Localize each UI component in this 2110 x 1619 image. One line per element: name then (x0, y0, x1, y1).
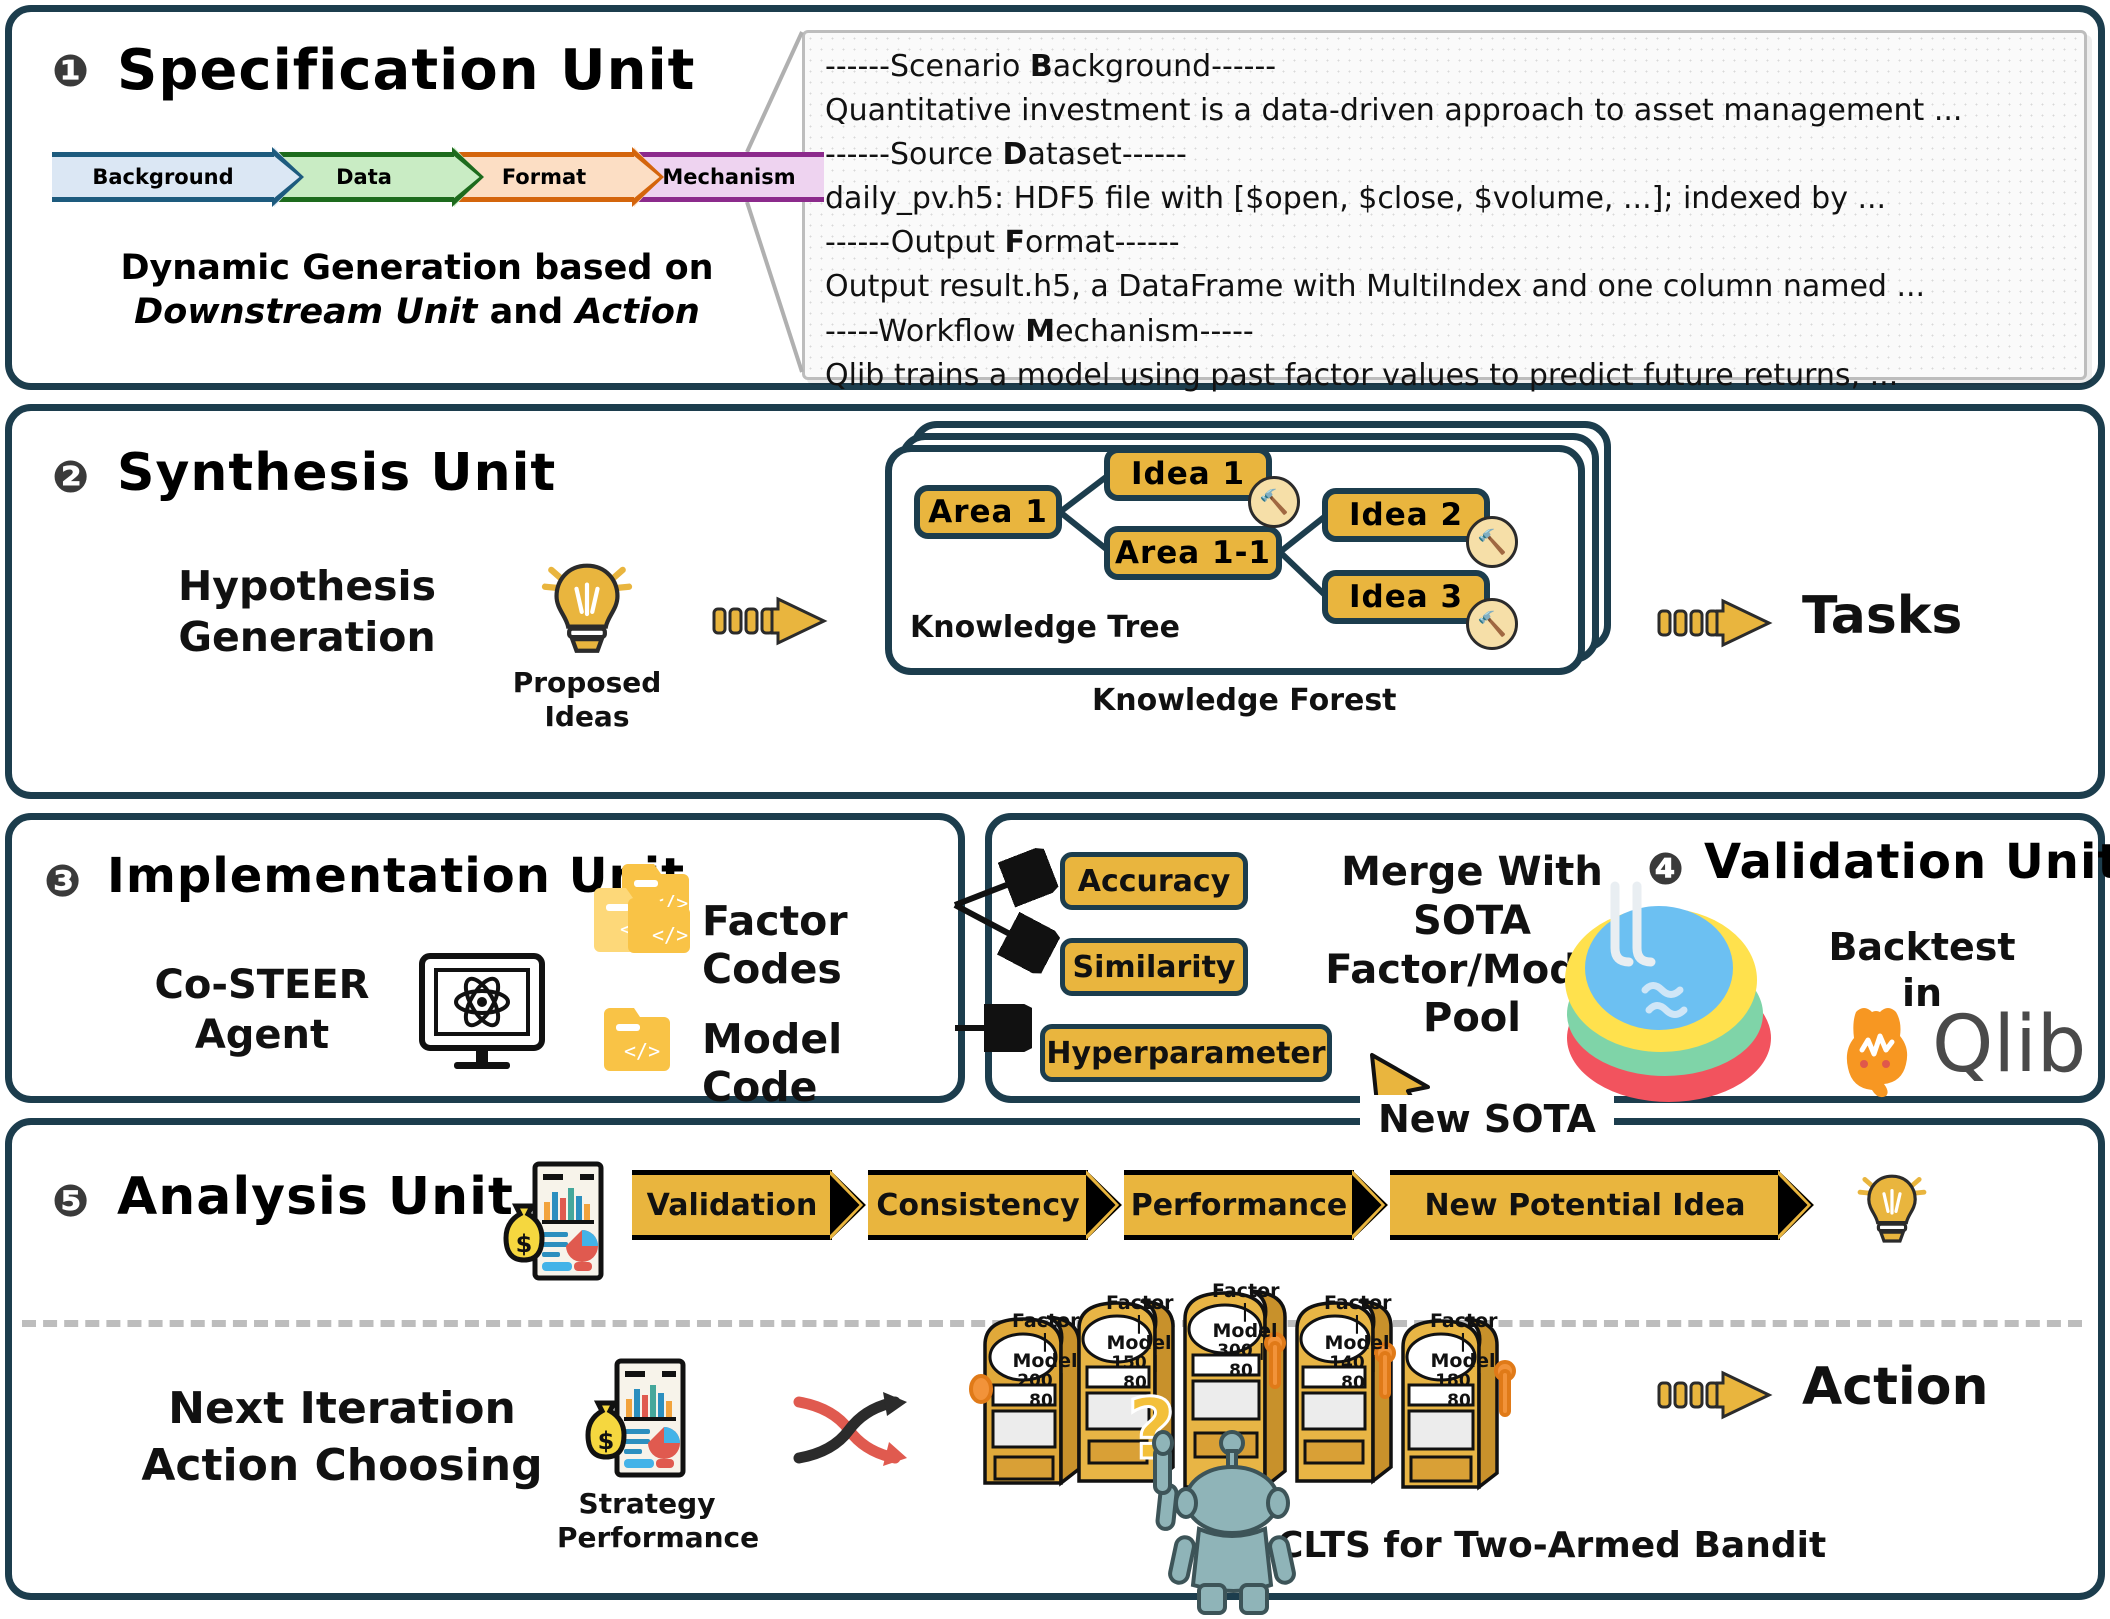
bandit-caption: CLTS for Two-Armed Bandit (1277, 1525, 1826, 1566)
machine-3-title: Factor| Model (1212, 1282, 1278, 1342)
tree-node-area-1-1[interactable]: Area 1-1 (1104, 526, 1282, 580)
specification-leader-lines (12, 12, 2110, 397)
tree-node-idea-3-label: Idea 3 (1349, 579, 1463, 615)
stage-background-label: Background (88, 165, 237, 189)
strategy-performance-icon: $ (584, 1357, 689, 1486)
machine-3-value: 300 | 80 (1205, 1341, 1277, 1381)
stage-background[interactable]: Background (52, 152, 274, 202)
analysis-step-new-idea-label: New Potential Idea (1424, 1188, 1745, 1223)
tree-node-idea-1[interactable]: Idea 1 (1104, 447, 1272, 501)
co-steer-line2: Agent (142, 1010, 382, 1060)
analysis-unit-title: Analysis Unit (117, 1167, 514, 1227)
machine-5-value: 180 | 80 (1423, 1371, 1495, 1411)
proposed-ideas-caption: Proposed Ideas (502, 666, 672, 733)
hammer-glyph-3: 🔨 (1477, 610, 1507, 638)
tree-node-idea-1-label: Idea 1 (1131, 456, 1245, 492)
tree-node-idea-3[interactable]: Idea 3 (1322, 570, 1490, 624)
hammer-tool-icon-1: 🔨 (1248, 476, 1300, 528)
synthesis-unit-title: Synthesis Unit (117, 443, 556, 503)
machine-2-title-model: | Model (1106, 1314, 1172, 1354)
knowledge-forest-label: Knowledge Forest (1092, 683, 1397, 718)
machine-5-title: Factor| Model (1430, 1312, 1496, 1372)
knowledge-forest: Area 1 Idea 1 Area 1-1 Idea 2 Idea 3 🔨 🔨… (877, 371, 1612, 661)
validation-unit-panel: ❹ Validation Unit Accuracy Similarity Hy… (985, 813, 2105, 1103)
stage-data-label: Data (332, 165, 396, 189)
metric-accuracy-label: Accuracy (1078, 864, 1231, 899)
tree-node-area-1-1-label: Area 1-1 (1115, 535, 1271, 571)
model-code-label: Model Code (702, 1015, 958, 1111)
analysis-step-validation-label: Validation (647, 1188, 818, 1223)
svg-text:</>: </> (652, 923, 688, 947)
co-steer-line1: Co-STEER (142, 960, 382, 1010)
atom-monitor-icon (412, 950, 552, 1079)
machine-1-value: 200 | 80 (1005, 1371, 1077, 1411)
next-iteration-line1: Next Iteration (107, 1380, 577, 1437)
analysis-unit-panel: ❺ Analysis Unit $ Validation Consistency (5, 1118, 2105, 1600)
svg-text:$: $ (516, 1230, 533, 1258)
factor-codes-label: Factor Codes (702, 897, 958, 993)
implementation-unit-panel: ❸ Implementation Unit Co-STEER Agent </> (5, 813, 965, 1103)
specification-stage-band: Background Data Format Mechanism (52, 152, 824, 202)
machine-1-title-model: | Model (1012, 1332, 1078, 1372)
machine-1-title: Factor| Model (1012, 1312, 1078, 1372)
specification-unit-panel: ❶ Specification Unit Background Data For… (5, 5, 2105, 390)
proposed-ideas-line2: Ideas (502, 700, 672, 734)
lightbulb-icon (532, 551, 642, 656)
svg-text:</>: </> (624, 1039, 660, 1063)
tree-node-area-1-label: Area 1 (928, 494, 1048, 530)
backtest-line1: Backtest (1782, 925, 2062, 971)
analysis-step-new-potential-idea[interactable]: New Potential Idea (1390, 1170, 1780, 1240)
stage-format-label: Format (498, 165, 590, 189)
code-folder-icon: </> (602, 1002, 672, 1081)
code-folder-stack-icon: </> </> </> (590, 862, 705, 976)
co-steer-agent-label: Co-STEER Agent (142, 960, 382, 1060)
action-output-label: Action (1802, 1357, 1989, 1417)
hypothesis-generation-label: Hypothesis Generation (162, 561, 452, 664)
strategy-perf-line1: Strategy (557, 1487, 737, 1521)
stage-mechanism-label: Mechanism (658, 165, 799, 189)
analysis-step-validation[interactable]: Validation (632, 1170, 832, 1240)
analysis-flow: Validation Consistency Performance New P… (632, 1170, 1780, 1240)
next-iteration-line2: Action Choosing (107, 1437, 577, 1494)
hammer-tool-icon-2: 🔨 (1466, 516, 1518, 568)
tree-node-idea-2[interactable]: Idea 2 (1322, 488, 1490, 542)
strategy-perf-line2: Performance (557, 1521, 737, 1555)
analysis-step-consistency-label: Consistency (876, 1188, 1079, 1223)
analysis-unit-number: ❺ (52, 1180, 89, 1224)
qlib-wordmark: Qlib (1932, 1000, 2086, 1090)
tree-node-idea-2-label: Idea 2 (1349, 497, 1463, 533)
flow-arrow-icon-3 (1657, 1365, 1787, 1429)
analysis-step-performance[interactable]: Performance (1124, 1170, 1354, 1240)
hypothesis-line1: Hypothesis (162, 561, 452, 612)
machine-2-title: Factor| Model (1106, 1294, 1172, 1354)
proposed-ideas-line1: Proposed (502, 666, 672, 700)
hammer-glyph-1: 🔨 (1259, 488, 1289, 516)
machine-3-title-model: | Model (1212, 1302, 1278, 1342)
implementation-unit-number: ❸ (44, 860, 81, 904)
flow-arrow-icon-2 (1657, 593, 1787, 657)
synthesis-unit-number: ❷ (52, 456, 89, 500)
hammer-glyph-2: 🔨 (1477, 528, 1507, 556)
analysis-step-consistency[interactable]: Consistency (868, 1170, 1088, 1240)
analysis-step-performance-label: Performance (1131, 1188, 1348, 1223)
robot-icon (1137, 1425, 1327, 1619)
machine-4-title: Factor| Model (1324, 1294, 1390, 1354)
stage-mechanism[interactable]: Mechanism (634, 152, 824, 202)
money-report-icon: $ (502, 1160, 607, 1289)
hypothesis-line2: Generation (162, 612, 452, 663)
machine-4-title-factor: Factor (1324, 1294, 1390, 1314)
tasks-output-label: Tasks (1802, 586, 1962, 646)
svg-text:$: $ (598, 1427, 615, 1455)
hammer-tool-icon-3: 🔨 (1466, 598, 1518, 650)
machine-1-title-factor: Factor (1012, 1312, 1078, 1332)
new-sota-label: New SOTA (1360, 1095, 1614, 1143)
machine-5-title-model: | Model (1430, 1332, 1496, 1372)
machine-5-title-factor: Factor (1430, 1312, 1496, 1332)
machine-4-title-model: | Model (1324, 1314, 1390, 1354)
synthesis-unit-panel: ❷ Synthesis Unit Hypothesis Generation P… (5, 404, 2105, 799)
strategy-performance-caption: Strategy Performance (557, 1487, 737, 1554)
next-iteration-label: Next Iteration Action Choosing (107, 1380, 577, 1494)
metric-similarity[interactable]: Similarity (1060, 938, 1248, 996)
factor-model-pool-icon (1537, 868, 1787, 1112)
metric-accuracy[interactable]: Accuracy (1060, 852, 1248, 910)
tree-node-area-1[interactable]: Area 1 (914, 485, 1062, 539)
knowledge-tree-card: Area 1 Idea 1 Area 1-1 Idea 2 Idea 3 🔨 🔨… (885, 445, 1585, 675)
lightbulb-icon-analysis (1852, 1165, 1932, 1245)
machine-4-value: 140 | 80 (1317, 1353, 1389, 1393)
qlib-logo-icon (1842, 1002, 1934, 1101)
machine-3-title-factor: Factor (1212, 1282, 1278, 1302)
shuffle-arrows-icon (787, 1380, 907, 1484)
flow-arrow-icon-1 (712, 591, 842, 655)
metric-similarity-label: Similarity (1073, 950, 1236, 985)
machine-2-title-factor: Factor (1106, 1294, 1172, 1314)
knowledge-tree-label: Knowledge Tree (910, 610, 1180, 645)
